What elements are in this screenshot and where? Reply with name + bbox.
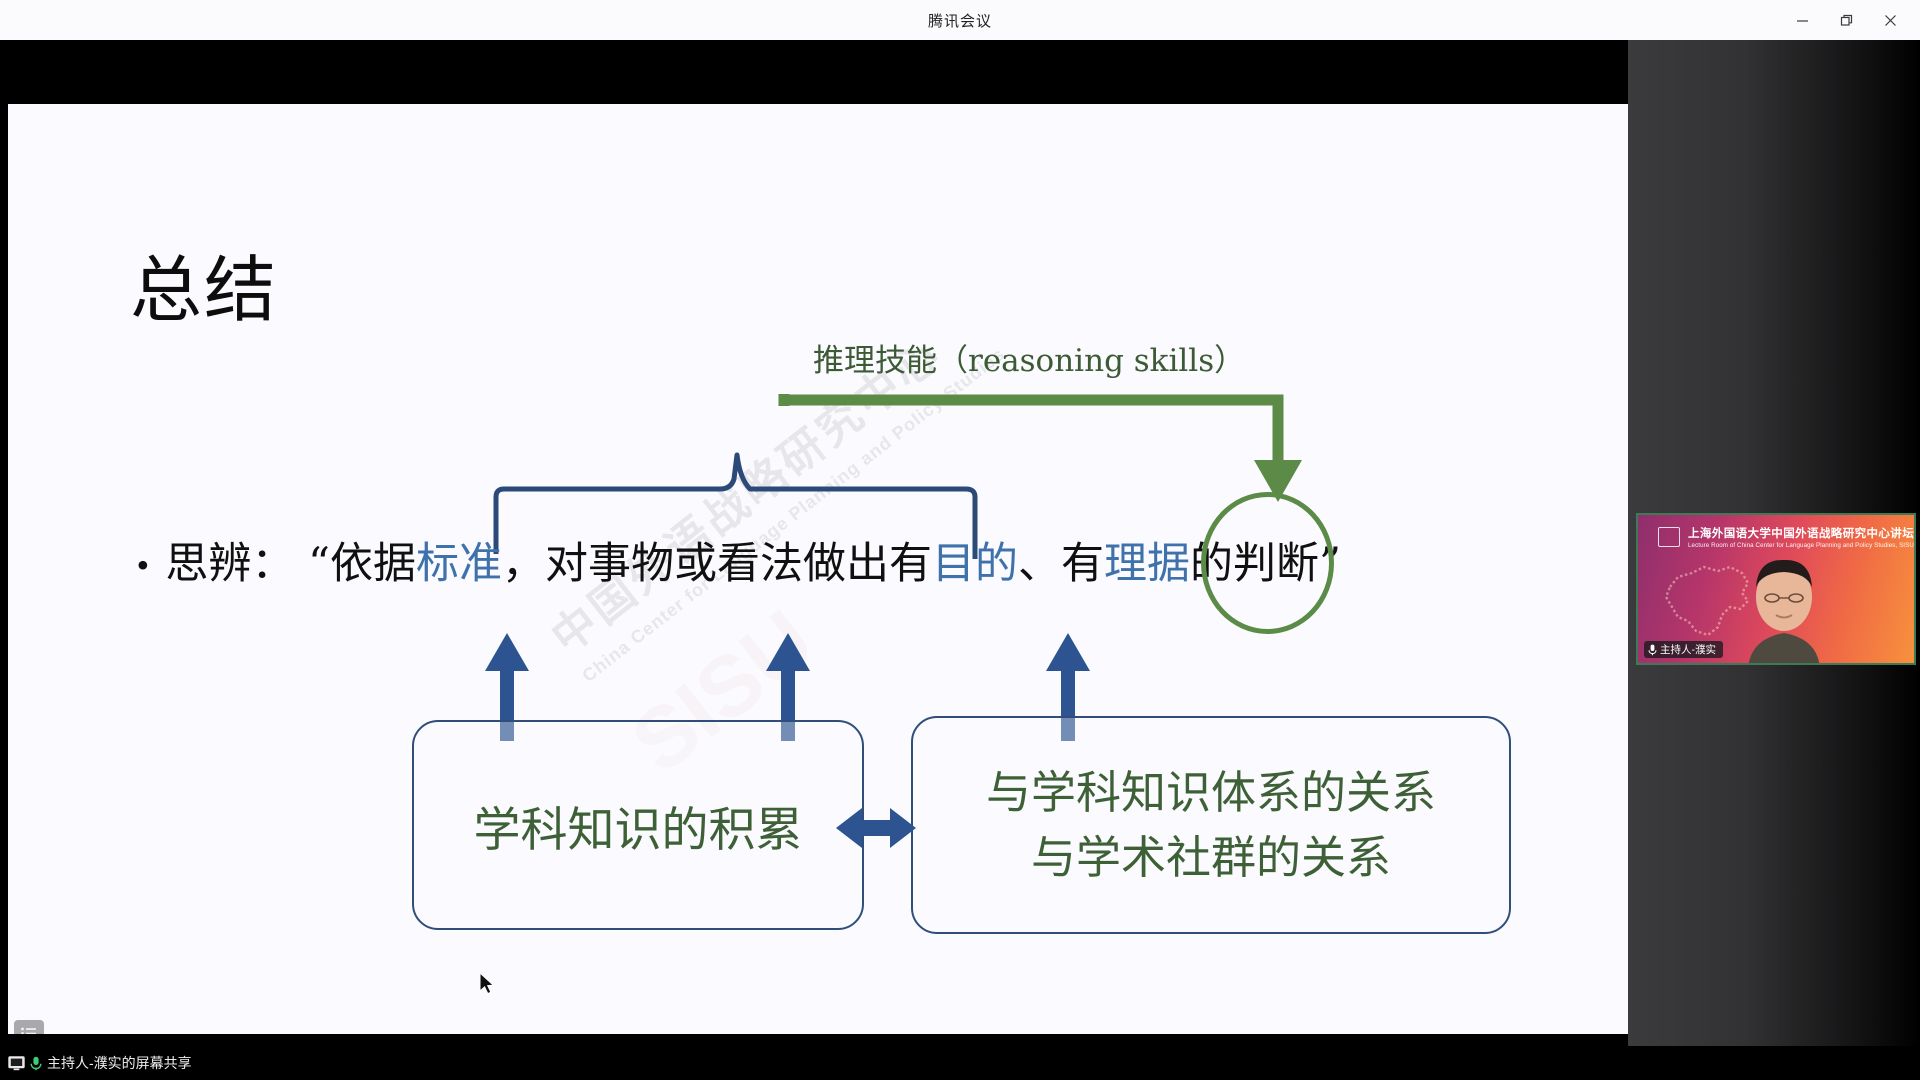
backdrop-header: 上海外国语大学中国外语战略研究中心讲坛 Lecture Room of Chin… <box>1658 525 1906 549</box>
window-titlebar: 腾讯会议 <box>0 0 1920 40</box>
participant-name-badge: 主持人-濮实 <box>1644 641 1723 658</box>
screen-share-status-bar: 主持人-濮实的屏幕共享 <box>0 1046 1920 1080</box>
slide-title: 总结 <box>130 254 278 326</box>
mouse-cursor <box>478 972 498 1000</box>
minimize-button[interactable] <box>1780 0 1824 40</box>
window-controls <box>1780 0 1912 40</box>
tencent-meeting-window: 腾讯会议 <box>0 0 1920 1080</box>
restore-button[interactable] <box>1824 0 1868 40</box>
microphone-icon <box>1648 644 1657 656</box>
reasoning-skills-label: 推理技能（reasoning skills） <box>813 335 1245 380</box>
backdrop-title-cn: 上海外国语大学中国外语战略研究中心讲坛 <box>1688 525 1906 541</box>
bullet-marker: • <box>134 550 152 585</box>
screen-share-status-text: 主持人-濮实的屏幕共享 <box>47 1053 192 1073</box>
bullet-open-quote: “ <box>308 539 330 589</box>
bidirectional-arrow <box>836 804 916 852</box>
backdrop-title-en: Lecture Room of China Center for Languag… <box>1688 542 1906 549</box>
evidence-highlight-circle <box>1201 492 1334 634</box>
window-title: 腾讯会议 <box>928 10 992 31</box>
participant-name-text: 主持人-濮实 <box>1660 642 1716 657</box>
presentation-slide[interactable]: 中国外语战略研究中心 China Center for Language Pla… <box>8 104 1628 1034</box>
screen-share-icon <box>8 1056 25 1071</box>
bullet-lead: 思辨： <box>165 539 294 589</box>
concept-box-relationships[interactable]: 与学科知识体系的关系 与学术社群的关系 <box>911 716 1511 934</box>
concept-box-right-line-1: 与学科知识体系的关系 <box>986 760 1436 825</box>
bullet-seg-1: 依据 <box>330 539 416 589</box>
shared-screen-frame[interactable]: 中国外语战略研究中心 China Center for Language Pla… <box>8 52 1628 1037</box>
presenter-menu-icon[interactable] <box>14 1020 44 1034</box>
university-logo-icon <box>1658 527 1680 547</box>
concept-box-left-text: 学科知识的积累 <box>474 791 803 860</box>
bullet-seg-3: 、有 <box>1018 539 1104 589</box>
close-button[interactable] <box>1868 0 1912 40</box>
microphone-active-icon <box>30 1056 42 1071</box>
bullet-highlight-purpose: 目的 <box>932 539 1018 589</box>
bullet-highlight-criteria: 标准 <box>416 539 502 589</box>
concept-box-right-line-2: 与学术社群的关系 <box>1031 825 1391 890</box>
participant-video-tile[interactable]: 上海外国语大学中国外语战略研究中心讲坛 Lecture Room of Chin… <box>1636 513 1916 665</box>
meeting-body: 中国外语战略研究中心 China Center for Language Pla… <box>0 40 1920 1080</box>
concept-box-discipline-knowledge[interactable]: 学科知识的积累 <box>412 720 864 930</box>
bullet-seg-2: ，对事物或看法做出有 <box>502 539 932 589</box>
participant-silhouette <box>1724 557 1844 665</box>
bullet-highlight-evidence: 理据 <box>1104 539 1190 589</box>
